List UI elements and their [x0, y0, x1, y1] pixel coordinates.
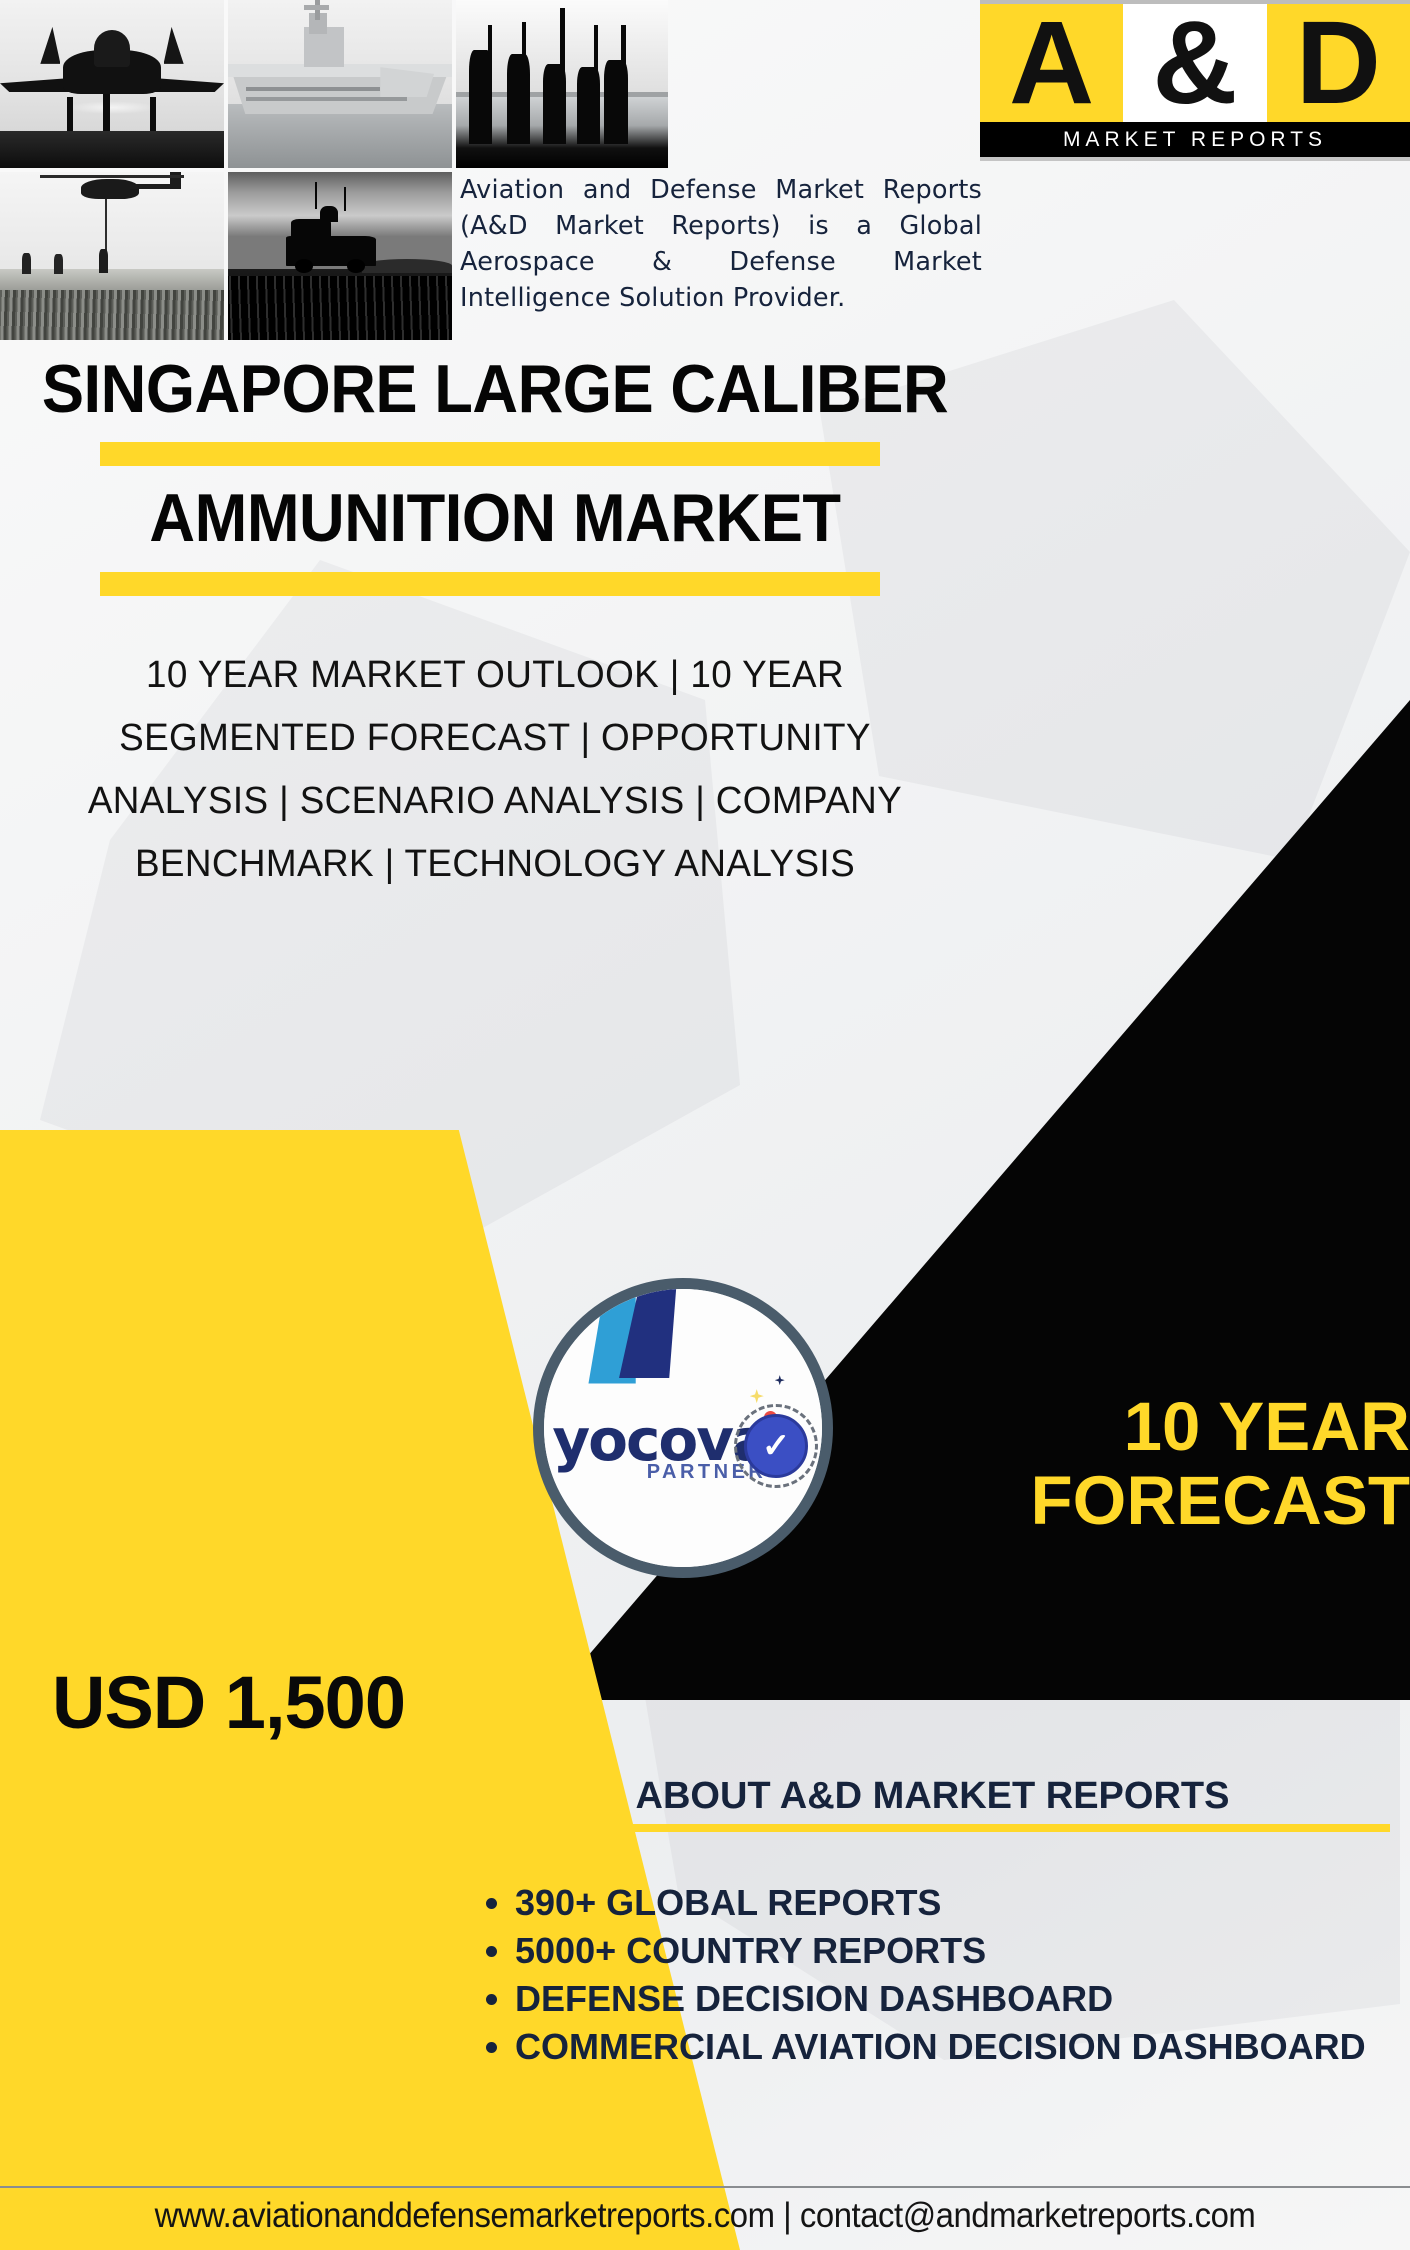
verified-badge: ✓: [744, 1414, 808, 1478]
about-bullet-global-reports: 390+ GLOBAL REPORTS: [515, 1880, 1410, 1926]
yocova-inner: yocova PARTNER ✓: [544, 1289, 822, 1567]
report-scope-blurb: 10 YEAR MARKET OUTLOOK | 10 YEAR SEGMENT…: [44, 644, 946, 896]
sparkle-navy-icon: [775, 1375, 785, 1385]
about-section: ABOUT A&D MARKET REPORTS 390+ GLOBAL REP…: [455, 1775, 1410, 2072]
about-heading-underline: [460, 1824, 1390, 1832]
logo-letter-a: A: [980, 4, 1123, 122]
logo-letter-d: D: [1267, 4, 1410, 122]
about-bullet-country-reports: 5000+ COUNTRY REPORTS: [515, 1928, 1410, 1974]
yocova-partner-badge: yocova PARTNER ✓: [533, 1278, 833, 1578]
ad-market-reports-logo: A & D MARKET REPORTS: [980, 0, 1410, 165]
report-title-block: SINGAPORE LARGE CALIBER AMMUNITION MARKE…: [0, 355, 990, 614]
about-bullet-commercial-dashboard: COMMERCIAL AVIATION DECISION DASHBOARD: [515, 2024, 1410, 2070]
logo-letter-row: A & D: [980, 0, 1410, 122]
report-title-line-2: AMMUNITION MARKET: [35, 484, 956, 553]
helicopter-rappel-photo: [0, 172, 224, 340]
price-amount: USD 1,500: [52, 1660, 452, 1745]
title-underline-1: [100, 442, 880, 466]
poster-canvas: A & D MARKET REPORTS Aviation and Defens…: [0, 0, 1410, 2250]
about-bullet-list: 390+ GLOBAL REPORTS 5000+ COUNTRY REPORT…: [455, 1880, 1410, 2070]
logo-ampersand: &: [1123, 4, 1266, 122]
about-heading: ABOUT A&D MARKET REPORTS: [455, 1775, 1410, 1818]
footer-divider: [0, 2186, 1410, 2188]
fighter-jet-photo: [0, 0, 224, 168]
report-title-line-1: SINGAPORE LARGE CALIBER: [35, 355, 956, 424]
armored-vehicle-photo: [228, 172, 452, 340]
sparkle-yellow-icon: [750, 1389, 764, 1403]
footer-contact: www.aviationanddefensemarketreports.com …: [42, 2196, 1367, 2236]
soldiers-silhouette-photo: [456, 0, 668, 168]
about-bullet-defense-dashboard: DEFENSE DECISION DASHBOARD: [515, 1976, 1410, 2022]
aircraft-carrier-photo: [228, 0, 452, 168]
company-intro-paragraph: Aviation and Defense Market Reports (A&D…: [460, 172, 982, 316]
title-underline-2: [100, 572, 880, 596]
badge-check-icon: ✓: [744, 1414, 808, 1478]
